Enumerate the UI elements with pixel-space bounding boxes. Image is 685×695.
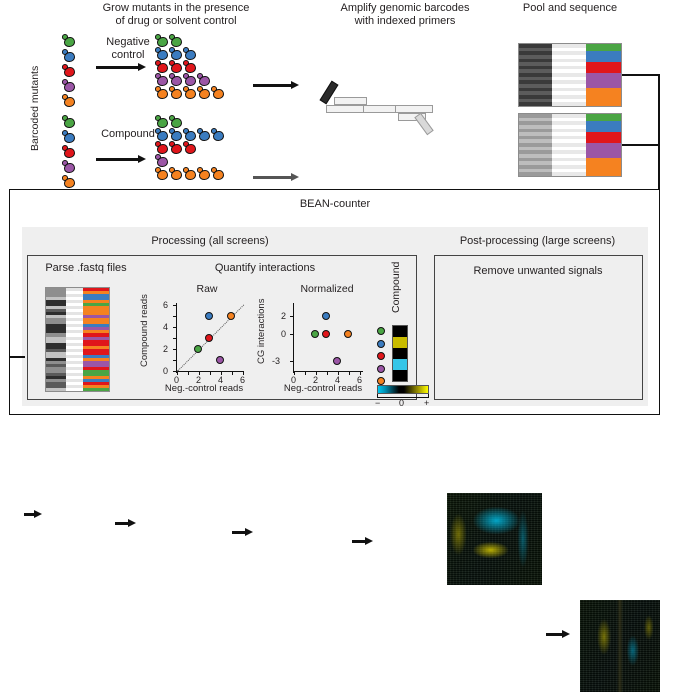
yeast-cell-icon xyxy=(62,115,76,128)
yeast-cell-icon xyxy=(169,167,183,180)
yeast-cell-icon xyxy=(169,141,183,154)
colony-row-blue xyxy=(155,128,225,141)
arrow-to-amplify-control xyxy=(253,81,299,90)
raw-ytick xyxy=(173,371,176,372)
heatmap-before-image xyxy=(444,490,545,588)
step2-title-line2: with indexed primers xyxy=(300,15,510,28)
raw-ytick-label: 4 xyxy=(163,322,168,332)
yeast-cell-icon xyxy=(169,60,183,73)
bean-counter-title: BEAN-counter xyxy=(245,198,425,211)
fastq-index-column xyxy=(46,288,66,391)
postprocessing-section-title: Post-processing (large screens) xyxy=(430,235,645,248)
pool-index-column-control xyxy=(519,44,552,106)
normalized-ytick xyxy=(290,334,293,335)
raw-ytick-label: 0 xyxy=(163,366,168,376)
fastq-barcode-column xyxy=(83,288,109,391)
arrow-heatmap-before-after xyxy=(546,630,572,639)
raw-data-point-red xyxy=(205,334,213,342)
pool-barcode-column xyxy=(586,44,621,106)
raw-ytick xyxy=(173,349,176,350)
yeast-cell-icon xyxy=(155,47,169,60)
colony-row-purple xyxy=(155,154,225,167)
heatmap-cell-red xyxy=(393,348,407,359)
yeast-cell-icon xyxy=(183,73,197,86)
sequence-band xyxy=(519,172,552,176)
yeast-cell-icon xyxy=(169,128,183,141)
normalized-ytick-label: -3 xyxy=(272,356,280,366)
yeast-cell-icon xyxy=(155,128,169,141)
normalized-xlabel: Neg.-control reads xyxy=(268,383,378,394)
yeast-cell-icon xyxy=(197,73,211,86)
raw-ytick xyxy=(173,316,176,317)
processing-section-title: Processing (all screens) xyxy=(75,235,345,248)
normalized-data-point-purple xyxy=(333,357,341,365)
raw-ytick xyxy=(173,360,176,361)
normalized-ylabel: CG interactions xyxy=(256,287,267,375)
step1-title-line1: Grow mutants in the presence xyxy=(60,2,292,15)
yeast-cell-icon xyxy=(155,86,169,99)
heatmap-cell-green xyxy=(393,326,407,337)
amplicon-strand-right xyxy=(395,105,433,113)
arrow-into-parse xyxy=(24,510,42,519)
colony-row-red xyxy=(155,141,225,154)
raw-data-point-orange xyxy=(227,312,235,320)
pool-connector-control xyxy=(622,74,660,76)
yeast-cell-icon xyxy=(169,86,183,99)
yeast-cell-icon xyxy=(169,115,183,128)
colony-grid-compound xyxy=(155,115,225,180)
pool-connector-compound xyxy=(622,144,660,146)
sequence-band xyxy=(519,102,552,106)
row-dot-green xyxy=(377,327,385,335)
arrow-normalized-to-heatmap xyxy=(352,537,374,546)
inoculum-stack-compound xyxy=(62,115,76,188)
amplicon-strand-left xyxy=(326,105,364,113)
pool-index-column-compound xyxy=(519,114,552,176)
normalized-ytick xyxy=(290,316,293,317)
yeast-cell-icon xyxy=(62,160,76,173)
raw-ylabel: Compound reads xyxy=(139,287,150,375)
barcoded-mutants-label: Barcoded mutants xyxy=(29,48,41,168)
colony-row-green xyxy=(155,34,225,47)
yeast-cell-icon xyxy=(155,73,169,86)
raw-xtick xyxy=(232,372,233,375)
colorbar-label-mid: 0 xyxy=(399,398,404,408)
colony-row-red xyxy=(155,60,225,73)
normalized-data-point-blue xyxy=(322,312,330,320)
primer-anneal-segment xyxy=(334,97,367,105)
normalized-chart-title: Normalized xyxy=(282,283,372,296)
yeast-cell-icon xyxy=(155,167,169,180)
yeast-cell-icon xyxy=(62,64,76,77)
yeast-cell-icon xyxy=(183,167,197,180)
sequence-band xyxy=(586,172,621,176)
row-dot-purple xyxy=(377,365,385,373)
step1-title-line2: of drug or solvent control xyxy=(60,15,292,28)
yeast-cell-icon xyxy=(211,128,225,141)
raw-y-axis xyxy=(176,303,177,373)
yeast-cell-icon xyxy=(62,145,76,158)
yeast-cell-icon xyxy=(62,175,76,188)
arrow-compound-growth xyxy=(96,155,146,164)
raw-scatter-plot: Compound reads Raw 0 2 4 6 0 2 4 6 Neg.-… xyxy=(139,283,249,393)
arrow-parse-to-raw xyxy=(115,519,137,528)
yeast-cell-icon xyxy=(155,154,169,167)
step1-title: Grow mutants in the presence of drug or … xyxy=(60,2,292,28)
raw-ytick xyxy=(173,305,176,306)
yeast-cell-icon xyxy=(183,141,197,154)
arrow-control-growth xyxy=(96,63,146,72)
normalized-ytick xyxy=(290,361,293,362)
colony-row-purple xyxy=(155,73,225,86)
yeast-cell-icon xyxy=(183,60,197,73)
heatmap-cell-purple xyxy=(393,359,407,370)
sequencing-pool-compound xyxy=(518,113,622,177)
parse-fastq-title: Parse .fastq files xyxy=(36,262,136,275)
inoculum-stack-control xyxy=(62,34,76,107)
normalized-data-point-orange xyxy=(344,330,352,338)
yeast-cell-icon xyxy=(183,86,197,99)
normalized-data-point-red xyxy=(322,330,330,338)
yeast-cell-icon xyxy=(183,128,197,141)
raw-ytick xyxy=(173,338,176,339)
yeast-cell-icon xyxy=(211,86,225,99)
yeast-cell-icon xyxy=(62,130,76,143)
yeast-cell-icon xyxy=(183,47,197,60)
raw-xtick xyxy=(188,372,189,375)
raw-ytick-label: 6 xyxy=(163,300,168,310)
yeast-cell-icon xyxy=(62,94,76,107)
step3-title: Pool and sequence xyxy=(500,2,640,15)
yeast-cell-icon xyxy=(169,34,183,47)
amplicon-strand-mid xyxy=(363,105,396,113)
row-dot-red xyxy=(377,352,385,360)
pool-barcode-column xyxy=(586,114,621,176)
compound-heatmap-column xyxy=(392,325,408,382)
normalized-data-point-green xyxy=(311,330,319,338)
yeast-cell-icon xyxy=(62,79,76,92)
heatmap-after-image xyxy=(577,597,663,695)
heatmap-cell-blue xyxy=(393,337,407,348)
step2-title: Amplify genomic barcodes with indexed pr… xyxy=(300,2,510,28)
normalized-ytick-label: 0 xyxy=(281,329,286,339)
colony-row-green xyxy=(155,115,225,128)
yeast-cell-icon xyxy=(197,86,211,99)
quantify-interactions-title: Quantify interactions xyxy=(185,262,345,275)
raw-data-point-purple xyxy=(216,356,224,364)
yeast-cell-icon xyxy=(169,73,183,86)
amplicon-diagram-control xyxy=(320,80,435,132)
entry-connector-line xyxy=(9,356,25,358)
fastq-common-column xyxy=(66,288,83,391)
colony-row-blue xyxy=(155,47,225,60)
yeast-cell-icon xyxy=(62,34,76,47)
raw-chart-title: Raw xyxy=(169,283,245,296)
sequence-band xyxy=(586,102,621,106)
sequence-band xyxy=(552,102,585,106)
colorbar-label-high: + xyxy=(424,398,429,408)
yeast-cell-icon xyxy=(155,34,169,47)
pool-common-column xyxy=(552,114,585,176)
raw-data-point-green xyxy=(194,345,202,353)
arrow-to-amplify-compound xyxy=(253,173,299,182)
row-dot-orange xyxy=(377,377,385,385)
fastq-barcode-strip xyxy=(45,287,110,392)
sequence-band xyxy=(66,388,83,391)
colony-row-orange xyxy=(155,167,225,180)
yeast-cell-icon xyxy=(197,167,211,180)
colorbar-label-low: − xyxy=(375,398,380,408)
yeast-cell-icon xyxy=(155,141,169,154)
yeast-cell-icon xyxy=(155,60,169,73)
colony-row-orange xyxy=(155,86,225,99)
normalized-xtick xyxy=(327,372,328,375)
raw-xtick xyxy=(210,372,211,375)
normalized-scatter-plot: CG interactions Normalized -3 0 2 0 2 4 … xyxy=(256,283,374,393)
raw-xlabel: Neg.-control reads xyxy=(151,383,257,394)
arrow-raw-to-normalized xyxy=(232,528,254,537)
heatmap-cell-orange xyxy=(393,370,407,381)
heatmap-colorbar xyxy=(377,385,429,394)
sequence-band xyxy=(83,388,109,391)
heatmap-row-dot-column xyxy=(377,327,385,385)
sequence-band xyxy=(552,172,585,176)
yeast-cell-icon xyxy=(62,49,76,62)
row-dot-blue xyxy=(377,340,385,348)
sequence-band xyxy=(46,388,66,391)
pool-connector-vertical xyxy=(658,74,660,190)
raw-ytick-label: 2 xyxy=(163,344,168,354)
normalized-xtick xyxy=(305,372,306,375)
sequencing-pool-control xyxy=(518,43,622,107)
colony-grid-control xyxy=(155,34,225,99)
remove-unwanted-signals-title: Remove unwanted signals xyxy=(448,265,628,278)
step2-title-line1: Amplify genomic barcodes xyxy=(300,2,510,15)
raw-ytick xyxy=(173,327,176,328)
yeast-cell-icon xyxy=(197,128,211,141)
yeast-cell-icon xyxy=(211,167,225,180)
pool-common-column xyxy=(552,44,585,106)
normalized-ytick-label: 2 xyxy=(281,311,286,321)
normalized-y-axis xyxy=(293,303,294,373)
normalized-xtick xyxy=(349,372,350,375)
yeast-cell-icon xyxy=(155,115,169,128)
yeast-cell-icon xyxy=(169,47,183,60)
compound-column-header: Compound xyxy=(390,262,402,324)
raw-data-point-blue xyxy=(205,312,213,320)
